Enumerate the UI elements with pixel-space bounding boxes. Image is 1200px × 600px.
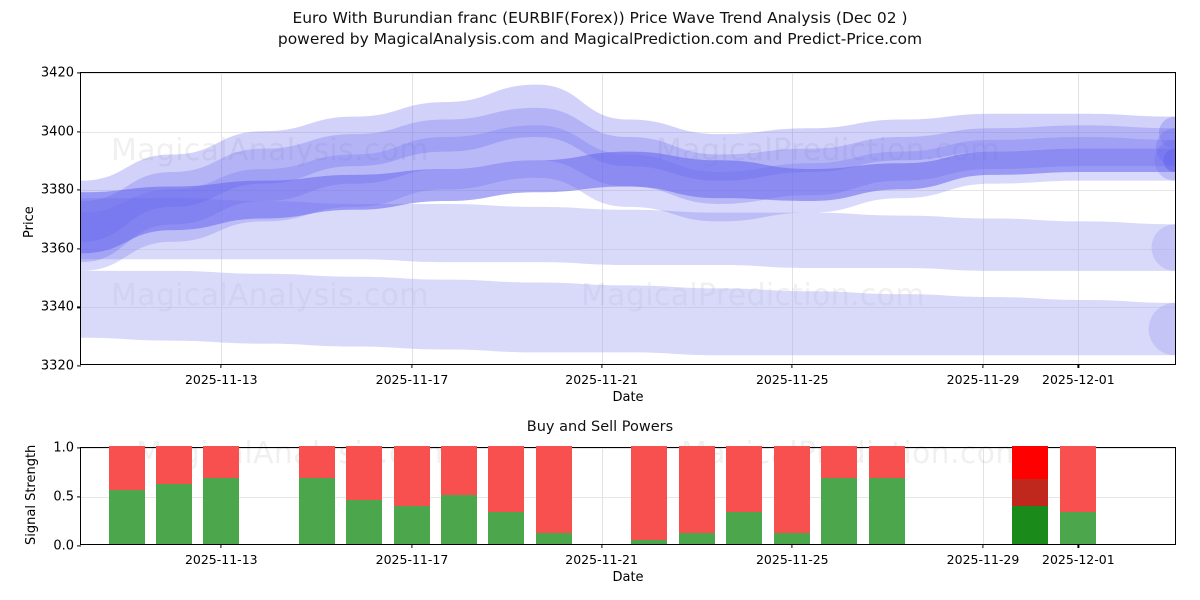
- wave-y-tick-label: 3340: [41, 300, 74, 315]
- wave-y-tick-label: 3400: [41, 124, 74, 139]
- sell-power-segment: [536, 446, 572, 533]
- power-bar[interactable]: [488, 446, 524, 544]
- buy-power-segment: [156, 484, 192, 544]
- power-gridline: [81, 497, 1175, 498]
- power-x-tick-label: 2025-11-21: [565, 552, 638, 567]
- wave-y-tick-label: 3360: [41, 241, 74, 256]
- wave-x-axis-label: Date: [612, 390, 643, 405]
- wave-y-tick-mark: [77, 365, 81, 366]
- sell-power-segment: [156, 446, 192, 484]
- buy-power-segment: [821, 478, 857, 544]
- wave-y-tick-mark: [77, 190, 81, 191]
- sell-power-segment: [109, 446, 145, 490]
- power-x-tick-mark: [221, 544, 222, 548]
- power-vertical-gridline: [983, 448, 984, 544]
- wave-x-tick-mark: [792, 364, 793, 368]
- wave-x-tick-label: 2025-11-21: [565, 372, 638, 387]
- wave-band-lower-support-band: [81, 271, 1175, 355]
- power-x-tick-label: 2025-11-29: [947, 552, 1020, 567]
- power-bar[interactable]: [1060, 446, 1096, 544]
- buy-power-segment: [441, 495, 477, 544]
- sell-power-segment: [1060, 446, 1096, 512]
- wave-x-tick-mark: [221, 364, 222, 368]
- wave-x-tick-label: 2025-11-13: [185, 372, 258, 387]
- sell-power-segment: [488, 446, 524, 512]
- wave-y-tick-mark: [77, 248, 81, 249]
- power-x-axis-label: Date: [612, 570, 643, 585]
- power-chart-title: Buy and Sell Powers: [0, 419, 1200, 435]
- power-x-tick-label: 2025-11-17: [376, 552, 449, 567]
- power-x-tick-mark: [411, 544, 412, 548]
- power-bar[interactable]: [869, 446, 905, 544]
- buy-power-segment: [679, 533, 715, 544]
- sell-power-segment: [299, 446, 335, 478]
- buy-power-segment: [1012, 506, 1048, 544]
- power-bar[interactable]: [441, 446, 477, 544]
- page-title: Euro With Burundian franc (EURBIF(Forex)…: [0, 8, 1200, 50]
- power-vertical-gridline: [602, 448, 603, 544]
- power-y-axis-label: Signal Strength: [24, 445, 39, 545]
- wave-y-tick-label: 3420: [41, 66, 74, 81]
- buy-power-segment: [346, 500, 382, 544]
- title-line-1: Euro With Burundian franc (EURBIF(Forex)…: [0, 8, 1200, 29]
- power-bar[interactable]: [679, 446, 715, 544]
- buy-power-segment: [726, 512, 762, 544]
- power-bar[interactable]: [631, 446, 667, 544]
- buy-power-segment: [1060, 512, 1096, 544]
- wave-y-tick-mark: [77, 307, 81, 308]
- wave-y-tick-mark: [77, 72, 81, 73]
- sell-power-segment: [869, 446, 905, 478]
- title-line-2: powered by MagicalAnalysis.com and Magic…: [0, 29, 1200, 50]
- buy-power-segment: [109, 490, 145, 544]
- power-x-tick-mark: [1078, 544, 1079, 548]
- power-y-tick-label: 0.5: [53, 490, 74, 505]
- buy-power-segment: [631, 540, 667, 544]
- price-wave-chart-axes: MagicalAnalysis.comMagicalPrediction.com…: [80, 72, 1176, 365]
- sell-power-segment: [346, 446, 382, 500]
- buy-power-segment: [394, 506, 430, 544]
- power-bar[interactable]: [536, 446, 572, 544]
- power-y-tick-label: 0.0: [53, 539, 74, 554]
- buy-power-segment: [203, 478, 239, 544]
- sell-power-overlap-segment: [1012, 479, 1048, 506]
- wave-x-tick-label: 2025-11-29: [947, 372, 1020, 387]
- power-bar[interactable]: [726, 446, 762, 544]
- sell-power-segment: [774, 446, 810, 533]
- power-y-tick-mark: [77, 447, 81, 448]
- buy-power-segment: [299, 478, 335, 544]
- wave-x-tick-mark: [601, 364, 602, 368]
- power-bar[interactable]: [299, 446, 335, 544]
- power-bar[interactable]: [346, 446, 382, 544]
- power-bar[interactable]: [1012, 446, 1048, 544]
- wave-x-tick-mark: [1078, 364, 1079, 368]
- power-bar[interactable]: [821, 446, 857, 544]
- figure-root: Euro With Burundian franc (EURBIF(Forex)…: [0, 0, 1200, 600]
- wave-x-tick-label: 2025-12-01: [1042, 372, 1115, 387]
- power-bar[interactable]: [774, 446, 810, 544]
- wave-y-tick-mark: [77, 131, 81, 132]
- power-x-tick-label: 2025-11-13: [185, 552, 258, 567]
- wave-x-tick-label: 2025-11-17: [376, 372, 449, 387]
- buy-power-segment: [536, 533, 572, 544]
- sell-power-segment: [679, 446, 715, 533]
- wave-x-tick-mark: [982, 364, 983, 368]
- wave-x-tick-label: 2025-11-25: [756, 372, 829, 387]
- power-bar[interactable]: [203, 446, 239, 544]
- buy-power-segment: [488, 512, 524, 544]
- sell-power-segment: [203, 446, 239, 478]
- power-gridline: [81, 448, 1175, 449]
- sell-power-segment: [631, 446, 667, 540]
- power-x-tick-label: 2025-12-01: [1042, 552, 1115, 567]
- wave-x-tick-mark: [411, 364, 412, 368]
- sell-power-segment: [726, 446, 762, 512]
- power-x-tick-mark: [601, 544, 602, 548]
- sell-power-segment: [441, 446, 477, 495]
- power-x-tick-mark: [792, 544, 793, 548]
- sell-power-segment: [394, 446, 430, 506]
- power-bar[interactable]: [156, 446, 192, 544]
- power-y-tick-mark: [77, 496, 81, 497]
- power-y-tick-mark: [77, 545, 81, 546]
- power-x-tick-label: 2025-11-25: [756, 552, 829, 567]
- power-x-tick-mark: [982, 544, 983, 548]
- wave-y-tick-label: 3320: [41, 359, 74, 374]
- sell-power-segment: [821, 446, 857, 478]
- power-y-tick-label: 1.0: [53, 441, 74, 456]
- power-bar[interactable]: [109, 446, 145, 544]
- buy-power-segment: [869, 478, 905, 544]
- wave-y-axis-label: Price: [22, 206, 37, 238]
- power-bar[interactable]: [394, 446, 430, 544]
- buy-sell-powers-axes: MagicalAnalysis.comMagicalPrediction.com…: [80, 447, 1176, 545]
- wave-bands-plot: [81, 73, 1175, 364]
- buy-power-segment: [774, 533, 810, 544]
- wave-y-tick-label: 3380: [41, 183, 74, 198]
